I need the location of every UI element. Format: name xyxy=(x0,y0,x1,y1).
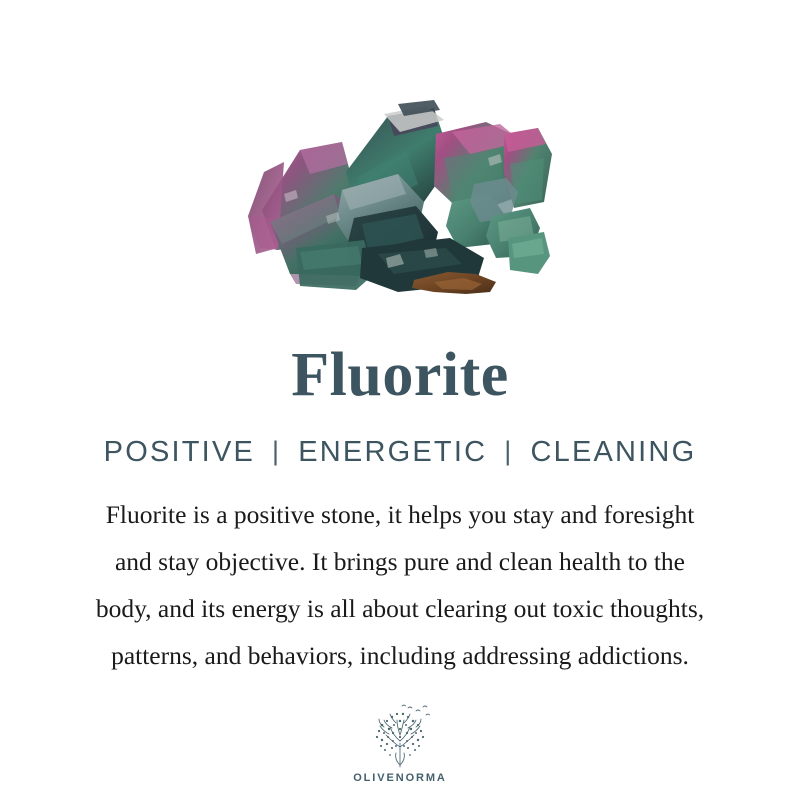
keyword-separator: | xyxy=(255,436,298,467)
description-paragraph: Fluorite is a positive stone, it helps y… xyxy=(0,469,800,679)
product-info-card: Fluorite POSITIVE | ENERGETIC | CLEANING… xyxy=(0,0,800,800)
description-line: Fluorite is a positive stone, it helps y… xyxy=(0,491,800,538)
keyword-separator: | xyxy=(487,436,530,467)
keyword-cleaning: CLEANING xyxy=(530,436,696,469)
specimen-image-area xyxy=(0,0,800,300)
keyword-positive: POSITIVE xyxy=(104,436,255,469)
keyword-list: POSITIVE | ENERGETIC | CLEANING xyxy=(104,406,697,469)
brand-wordmark: OLIVENORMA xyxy=(353,772,447,784)
brand-logo: OLIVENORMA xyxy=(353,679,447,784)
description-line: and stay objective. It brings pure and c… xyxy=(0,538,800,585)
tree-icon xyxy=(362,703,438,769)
description-line: body, and its energy is all about cleari… xyxy=(0,585,800,632)
fluorite-crystal-specimen xyxy=(238,98,558,294)
keyword-energetic: ENERGETIC xyxy=(298,436,487,469)
description-line: patterns, and behaviors, including addre… xyxy=(0,632,800,679)
page-title: Fluorite xyxy=(291,300,509,406)
